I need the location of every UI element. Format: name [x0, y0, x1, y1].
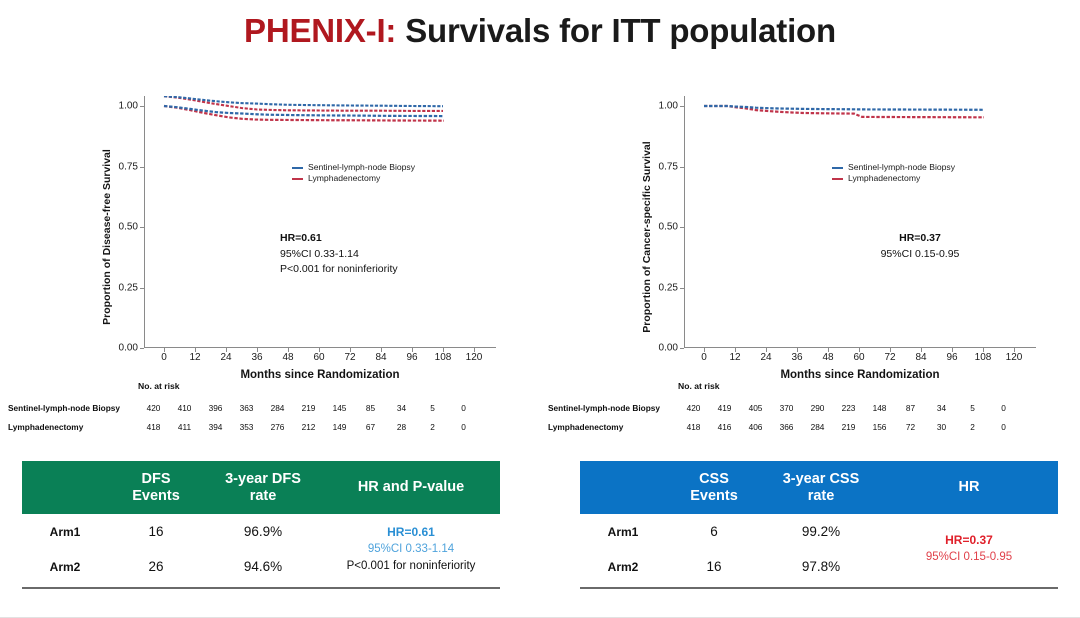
css-xtickmark-4 [828, 348, 829, 352]
dfs-xtickmark-9 [443, 348, 444, 352]
dfs-row1-rate: 94.6% [204, 559, 322, 574]
legend-line-red-icon [832, 178, 843, 180]
risk-cell: 284 [802, 422, 833, 432]
dfs-xtickmark-4 [288, 348, 289, 352]
dfs-xtick-5: 60 [313, 352, 324, 363]
css-curves [684, 96, 1036, 348]
dfs-header-rate-l1: 3-year DFS [206, 471, 320, 488]
dfs-xtick-4: 48 [282, 352, 293, 363]
css-ytick-0: 0.00 [640, 343, 678, 354]
dfs-annotation-ci: 95%CI 0.33-1.14 [280, 247, 398, 263]
css-summary-table: CSS Events 3-year CSS rate HR Arm1 6 99.… [580, 461, 1058, 589]
css-row1-events: 16 [666, 559, 762, 574]
css-legend: Sentinel-lymph-node Biopsy Lymphadenecto… [832, 162, 955, 184]
risk-cell: 416 [709, 422, 740, 432]
dfs-xtickmark-2 [226, 348, 227, 352]
dfs-xtickmark-5 [319, 348, 320, 352]
dfs-legend: Sentinel-lymph-node Biopsy Lymphadenecto… [292, 162, 415, 184]
risk-cell: 67 [355, 422, 386, 432]
dfs-annotation-p: P<0.001 for noninferiority [280, 262, 398, 278]
dfs-curves-scaled [144, 96, 496, 348]
css-xtickmark-1 [735, 348, 736, 352]
risk-cell: 405 [740, 403, 771, 413]
risk-cell: 276 [262, 422, 293, 432]
risk-cell: 394 [200, 422, 231, 432]
risk-cell: 212 [293, 422, 324, 432]
dfs-xtick-6: 72 [344, 352, 355, 363]
dfs-risk-row-values-1: 418 411 394 353 276 212 149 67 28 2 0 [138, 422, 479, 432]
dfs-row0-events: 16 [108, 524, 204, 539]
css-xtick-0: 0 [701, 352, 707, 363]
dfs-risk-row-name-0: Sentinel-lymph-node Biopsy [8, 403, 138, 413]
dfs-ytick-4: 1.00 [100, 101, 138, 112]
risk-cell: 0 [988, 422, 1019, 432]
dfs-ytick-2: 0.50 [100, 222, 138, 233]
dfs-risk-row-values-0: 420 410 396 363 284 219 145 85 34 5 0 [138, 403, 479, 413]
css-row0-events: 6 [666, 524, 762, 539]
css-xtickmark-7 [921, 348, 922, 352]
risk-cell: 284 [262, 403, 293, 413]
legend-line-blue-icon [292, 167, 303, 169]
risk-cell: 219 [833, 422, 864, 432]
dfs-legend-item-lymphadenectomy: Lymphadenectomy [292, 173, 415, 184]
css-annotation-ci: 95%CI 0.15-0.95 [820, 247, 1020, 263]
dfs-xtick-0: 0 [161, 352, 167, 363]
dfs-summary-body: Arm1 16 96.9% Arm2 26 94.6% HR=0.61 95%C… [22, 514, 500, 584]
dfs-line-slnb [164, 106, 444, 116]
dfs-legend-item-slnb: Sentinel-lymph-node Biopsy [292, 162, 415, 173]
dfs-summary-header-rate: 3-year DFS rate [204, 471, 322, 505]
page-title-study: PHENIX-I: [244, 12, 396, 49]
dfs-summary-bottom-border [22, 587, 500, 589]
css-legend-label-slnb: Sentinel-lymph-node Biopsy [848, 162, 955, 173]
css-annotation-hr: HR=0.37 [820, 231, 1020, 247]
dfs-xtick-1: 12 [189, 352, 200, 363]
dfs-xtick-10: 120 [466, 352, 483, 363]
legend-line-red-icon [292, 178, 303, 180]
dfs-risk-header: No. at risk [138, 381, 479, 391]
css-risk-table: No. at risk Sentinel-lymph-node Biopsy 4… [548, 381, 1019, 436]
dfs-risk-row-name-1: Lymphadenectomy [8, 422, 138, 432]
css-xtick-2: 24 [760, 352, 771, 363]
css-xtick-4: 48 [822, 352, 833, 363]
risk-cell: 28 [386, 422, 417, 432]
dfs-xtick-2: 24 [220, 352, 231, 363]
risk-cell: 85 [355, 403, 386, 413]
dfs-xtick-9: 108 [435, 352, 452, 363]
risk-cell: 410 [169, 403, 200, 413]
dfs-ytick-0: 0.00 [100, 343, 138, 354]
css-xtickmark-2 [766, 348, 767, 352]
dfs-xtickmark-8 [412, 348, 413, 352]
dfs-ytick-3: 0.75 [100, 161, 138, 172]
risk-cell: 418 [678, 422, 709, 432]
risk-cell: 411 [169, 422, 200, 432]
css-summary-bottom-border [580, 587, 1058, 589]
risk-cell: 145 [324, 403, 355, 413]
risk-cell: 370 [771, 403, 802, 413]
dfs-x-axis-label: Months since Randomization [144, 369, 496, 381]
risk-cell: 353 [231, 422, 262, 432]
css-ytick-1: 0.25 [640, 282, 678, 293]
css-risk-row-name-1: Lymphadenectomy [548, 422, 678, 432]
css-risk-row-values-0: 420 419 405 370 290 223 148 87 34 5 0 [678, 403, 1019, 413]
risk-cell: 366 [771, 422, 802, 432]
dfs-hr-pvalue: P<0.001 for noninferiority [347, 558, 476, 575]
risk-cell: 5 [957, 403, 988, 413]
dfs-row1-events: 26 [108, 559, 204, 574]
dfs-y-axis-label: Proportion of Disease-free Survival [98, 92, 116, 382]
css-summary-header-hr: HR [880, 479, 1058, 496]
risk-cell: 30 [926, 422, 957, 432]
table-row: Lymphadenectomy 418 411 394 353 276 212 … [8, 417, 479, 436]
css-stats-annotation: HR=0.37 95%CI 0.15-0.95 [820, 231, 1020, 262]
risk-cell: 87 [895, 403, 926, 413]
css-xtick-5: 60 [853, 352, 864, 363]
css-ytick-2: 0.50 [640, 222, 678, 233]
css-xtickmark-8 [952, 348, 953, 352]
risk-cell: 149 [324, 422, 355, 432]
page-title: PHENIX-I: Survivals for ITT population [0, 12, 1080, 50]
risk-cell: 2 [957, 422, 988, 432]
dfs-annotation-hr: HR=0.61 [280, 231, 398, 247]
dfs-xtickmark-6 [350, 348, 351, 352]
risk-cell: 420 [678, 403, 709, 413]
css-plot: Proportion of Cancer-specific Survival 0… [636, 92, 1056, 382]
risk-cell: 0 [988, 403, 1019, 413]
risk-cell: 219 [293, 403, 324, 413]
css-xtick-7: 84 [915, 352, 926, 363]
dfs-header-events-l2: Events [110, 488, 202, 505]
css-x-axis-label: Months since Randomization [684, 369, 1036, 381]
css-axes: 0.00 0.25 0.50 0.75 1.00 0 12 24 36 48 [684, 96, 1036, 348]
css-legend-item-lymphadenectomy: Lymphadenectomy [832, 173, 955, 184]
css-xtick-8: 96 [946, 352, 957, 363]
risk-cell: 396 [200, 403, 231, 413]
risk-cell: 418 [138, 422, 169, 432]
dfs-xtickmark-7 [381, 348, 382, 352]
dfs-xtickmark-10 [474, 348, 475, 352]
dfs-xtickmark-1 [195, 348, 196, 352]
css-ytick-4: 1.00 [640, 101, 678, 112]
css-xtickmark-9 [983, 348, 984, 352]
dfs-legend-label-lymphadenectomy: Lymphadenectomy [308, 173, 380, 184]
risk-cell: 34 [926, 403, 957, 413]
dfs-summary-header-hr: HR and P-value [322, 479, 500, 496]
table-row: Sentinel-lymph-node Biopsy 420 410 396 3… [8, 398, 479, 417]
css-hr-value: HR=0.37 [945, 532, 993, 549]
css-xtick-9: 108 [975, 352, 992, 363]
dfs-summary-table: DFS Events 3-year DFS rate HR and P-valu… [22, 461, 500, 589]
css-risk-row-name-0: Sentinel-lymph-node Biopsy [548, 403, 678, 413]
legend-line-blue-icon [832, 167, 843, 169]
risk-cell: 156 [864, 422, 895, 432]
css-row1-rate: 97.8% [762, 559, 880, 574]
table-row: Lymphadenectomy 418 416 406 366 284 219 … [548, 417, 1019, 436]
css-xtick-6: 72 [884, 352, 895, 363]
risk-cell: 419 [709, 403, 740, 413]
css-header-rate-l2: rate [764, 488, 878, 505]
dfs-xtick-8: 96 [406, 352, 417, 363]
risk-cell: 5 [417, 403, 448, 413]
css-summary-header-events: CSS Events [666, 471, 762, 505]
css-legend-label-lymphadenectomy: Lymphadenectomy [848, 173, 920, 184]
risk-cell: 363 [231, 403, 262, 413]
css-y-axis-label: Proportion of Cancer-specific Survival [638, 92, 656, 382]
css-xtick-3: 36 [791, 352, 802, 363]
dfs-legend-label-slnb: Sentinel-lymph-node Biopsy [308, 162, 415, 173]
css-summary-header-rate: 3-year CSS rate [762, 471, 880, 505]
dfs-row0-arm: Arm1 [22, 525, 108, 539]
dfs-ytickmark-0 [140, 348, 144, 349]
risk-cell: 0 [448, 403, 479, 413]
css-xtickmark-5 [859, 348, 860, 352]
dfs-plot: Proportion of Disease-free Survival 0.00… [96, 92, 516, 382]
dfs-risk-table: No. at risk Sentinel-lymph-node Biopsy 4… [8, 381, 479, 436]
css-risk-header: No. at risk [678, 381, 1019, 391]
css-xtick-1: 12 [729, 352, 740, 363]
css-risk-row-values-1: 418 416 406 366 284 219 156 72 30 2 0 [678, 422, 1019, 432]
dfs-xtickmark-3 [257, 348, 258, 352]
dfs-header-events-l1: DFS [110, 471, 202, 488]
risk-cell: 34 [386, 403, 417, 413]
dfs-hr-pvalue-cell: HR=0.61 95%CI 0.33-1.14 P<0.001 for noni… [322, 514, 500, 584]
css-xtickmark-0 [704, 348, 705, 352]
risk-cell: 148 [864, 403, 895, 413]
risk-cell: 0 [448, 422, 479, 432]
css-row0-rate: 99.2% [762, 524, 880, 539]
dfs-xtick-7: 84 [375, 352, 386, 363]
css-row1-arm: Arm2 [580, 560, 666, 574]
dfs-header-rate-l2: rate [206, 488, 320, 505]
css-xtick-10: 120 [1006, 352, 1023, 363]
dfs-hr-value: HR=0.61 [387, 524, 435, 541]
risk-cell: 406 [740, 422, 771, 432]
css-header-rate-l1: 3-year CSS [764, 471, 878, 488]
css-xtickmark-10 [1014, 348, 1015, 352]
css-ytickmark-0 [680, 348, 684, 349]
risk-cell: 223 [833, 403, 864, 413]
dfs-line-lymphadenectomy [164, 106, 444, 121]
css-summary-body: Arm1 6 99.2% Arm2 16 97.8% HR=0.37 95%CI… [580, 514, 1058, 584]
css-summary-header-row: CSS Events 3-year CSS rate HR [580, 461, 1058, 514]
slide-root: PHENIX-I: Survivals for ITT population P… [0, 0, 1080, 618]
css-ytick-3: 0.75 [640, 161, 678, 172]
dfs-summary-header-row: DFS Events 3-year DFS rate HR and P-valu… [22, 461, 500, 514]
risk-cell: 72 [895, 422, 926, 432]
dfs-ytick-1: 0.25 [100, 282, 138, 293]
css-header-events-l2: Events [668, 488, 760, 505]
dfs-axes: 0.00 0.25 0.50 0.75 1.00 0 12 24 36 4 [144, 96, 496, 348]
dfs-xtick-3: 36 [251, 352, 262, 363]
page-title-text: Survivals for ITT population [405, 12, 836, 49]
table-row: Sentinel-lymph-node Biopsy 420 419 405 3… [548, 398, 1019, 417]
risk-cell: 290 [802, 403, 833, 413]
css-row0-arm: Arm1 [580, 525, 666, 539]
dfs-summary-header-events: DFS Events [108, 471, 204, 505]
dfs-row0-rate: 96.9% [204, 524, 322, 539]
css-xtickmark-3 [797, 348, 798, 352]
css-xtickmark-6 [890, 348, 891, 352]
css-hr-cell: HR=0.37 95%CI 0.15-0.95 [880, 514, 1058, 584]
dfs-row1-arm: Arm2 [22, 560, 108, 574]
risk-cell: 2 [417, 422, 448, 432]
dfs-stats-annotation: HR=0.61 95%CI 0.33-1.14 P<0.001 for noni… [280, 231, 398, 278]
css-hr-ci: 95%CI 0.15-0.95 [926, 549, 1012, 566]
dfs-xtickmark-0 [164, 348, 165, 352]
dfs-hr-ci: 95%CI 0.33-1.14 [368, 541, 454, 558]
css-legend-item-slnb: Sentinel-lymph-node Biopsy [832, 162, 955, 173]
css-header-events-l1: CSS [668, 471, 760, 488]
risk-cell: 420 [138, 403, 169, 413]
